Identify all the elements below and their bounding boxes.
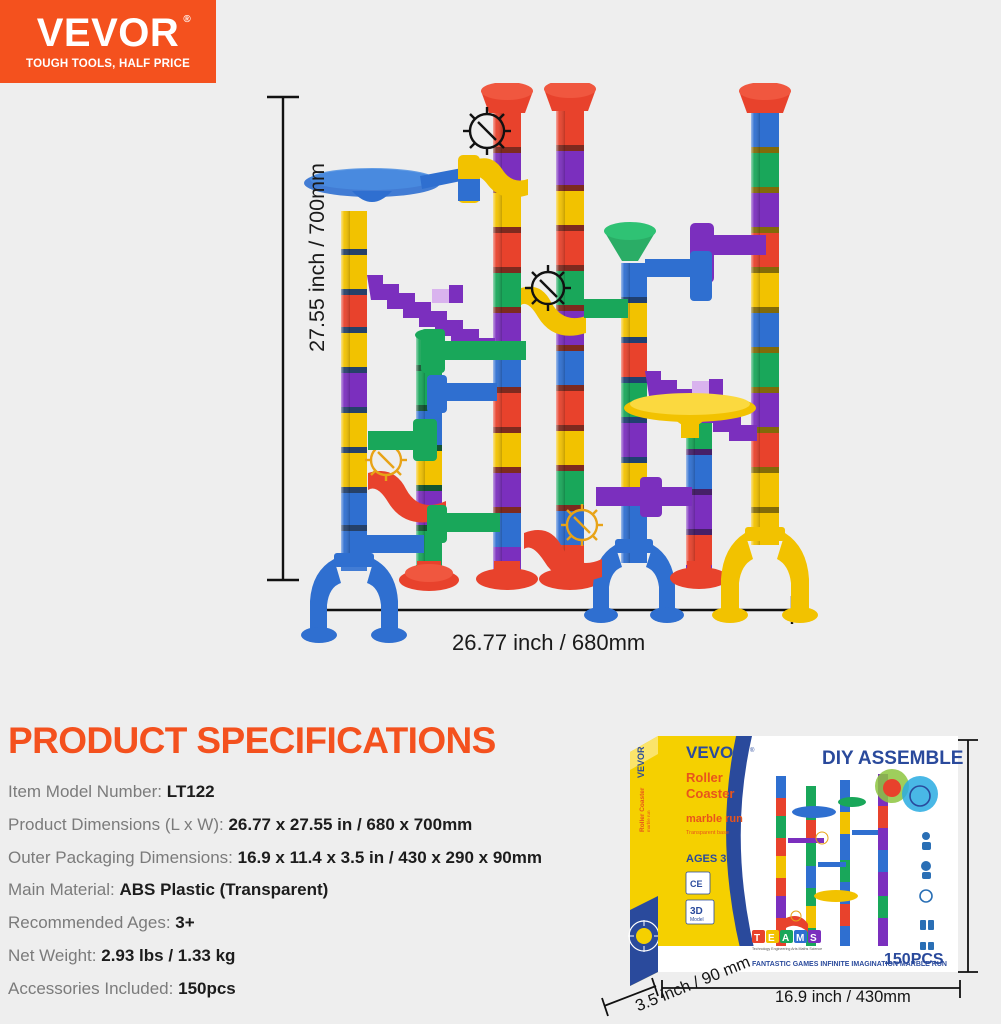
spine-sub-text: marble run [646,810,651,832]
box-spine-panel: VEVOR Roller Coaster marble run [628,736,660,986]
spec-label-material: Main Material: [8,880,115,899]
box-feature-badge-blue [902,776,938,812]
retail-box-illustration: VEVOR Roller Coaster marble run VEVOR ® … [590,720,1001,1024]
spec-value-accessories: 150pcs [178,979,236,998]
green-connector-bottom [427,505,500,543]
spec-value-ages: 3+ [175,913,194,932]
marble-run-illustration [0,83,1001,693]
green-connector-upper-right [584,299,628,318]
package-box-photo: VEVOR Roller Coaster marble run VEVOR ® … [590,720,1001,1024]
purple-connector-bottom-right [596,477,692,517]
width-dimension-label: 26.77 inch / 680mm [452,630,645,656]
brand-wordmark: VEVOR ® [37,13,180,53]
spinner-wheel-yellow-bottom [561,504,603,546]
spec-value-model: LT122 [167,782,215,801]
spec-value-material: ABS Plastic (Transparent) [120,880,329,899]
package-width-label: 16.9 inch / 430mm [775,988,911,1007]
spec-row-model: Item Model Number: LT122 [8,781,608,802]
blue-connector-mid-left [427,375,497,413]
box-ages-text: AGES 3+ [686,853,733,865]
spec-row-material: Main Material: ABS Plastic (Transparent) [8,879,608,900]
blue-connector-top-right [645,251,712,301]
box-teams-sub: Technology Engineering Arts Maths Scienc… [752,947,822,951]
product-specifications-section: PRODUCT SPECIFICATIONS Item Model Number… [8,722,608,1010]
blue-connector-bottom [366,535,424,553]
column-g [712,83,818,623]
product-hero-diagram [0,83,1001,693]
spec-row-dimensions: Product Dimensions (L x W): 26.77 x 27.5… [8,814,608,835]
spine-brand-text: VEVOR [636,746,646,778]
svg-text:E: E [768,933,775,944]
svg-text:A: A [782,933,789,944]
box-front-face: VEVOR ® Roller Coaster marble run Transp… [658,736,963,972]
green-connector-lower-left [368,419,437,461]
spec-row-ages: Recommended Ages: 3+ [8,912,608,933]
box-headline-text: DIY ASSEMBLE [822,748,963,769]
box-title-line1: Roller [686,770,723,785]
svg-text:M: M [796,933,804,944]
brand-tagline: TOUGH TOOLS, HALF PRICE [26,58,190,70]
vevor-logo-block: VEVOR ® TOUGH TOOLS, HALF PRICE [0,0,216,83]
box-subtitle: marble run [686,813,743,825]
spec-label-weight: Net Weight: [8,946,97,965]
spec-label-dimensions: Product Dimensions (L x W): [8,815,224,834]
spec-label-packaging: Outer Packaging Dimensions: [8,848,233,867]
spec-row-accessories: Accessories Included: 150pcs [8,978,608,999]
box-badge-ce: CE [690,879,703,889]
brand-name-text: VEVOR [37,11,180,55]
box-tagline-text: FANTASTIC GAMES INFINITE IMAGINATION MAR… [752,961,947,968]
box-badge-3d-line2: Model [690,917,704,923]
spec-value-packaging: 16.9 x 11.4 x 3.5 in / 430 x 290 x 90mm [238,848,542,867]
spec-value-weight: 2.93 lbs / 1.33 kg [101,946,235,965]
box-subnote: Transparent base [686,830,729,836]
registered-trademark-icon: ® [183,15,191,25]
height-dimension-line [267,97,299,580]
spec-value-dimensions: 26.77 x 27.55 in / 680 x 700mm [228,815,472,834]
box-title-line2: Coaster [686,786,734,801]
box-teams-logo: T E A M S Technology Engineering Arts Ma… [752,930,822,951]
spinner-wheel-black-top [463,107,511,155]
box-brand-text: VEVOR [686,743,746,762]
spec-row-weight: Net Weight: 2.93 lbs / 1.33 kg [8,945,608,966]
svg-text:T: T [754,933,760,944]
spine-title-text: Roller Coaster [639,787,646,832]
height-dimension-label: 27.55 inch / 700mm [305,163,330,352]
spec-label-ages: Recommended Ages: [8,913,171,932]
specifications-heading: PRODUCT SPECIFICATIONS [8,722,608,759]
box-badge-3d-line1: 3D [690,906,703,917]
spec-label-model: Item Model Number: [8,782,162,801]
spec-label-accessories: Accessories Included: [8,979,173,998]
svg-text:S: S [810,933,817,944]
box-brand-registered: ® [750,747,755,754]
spec-row-packaging: Outer Packaging Dimensions: 16.9 x 11.4 … [8,847,608,868]
